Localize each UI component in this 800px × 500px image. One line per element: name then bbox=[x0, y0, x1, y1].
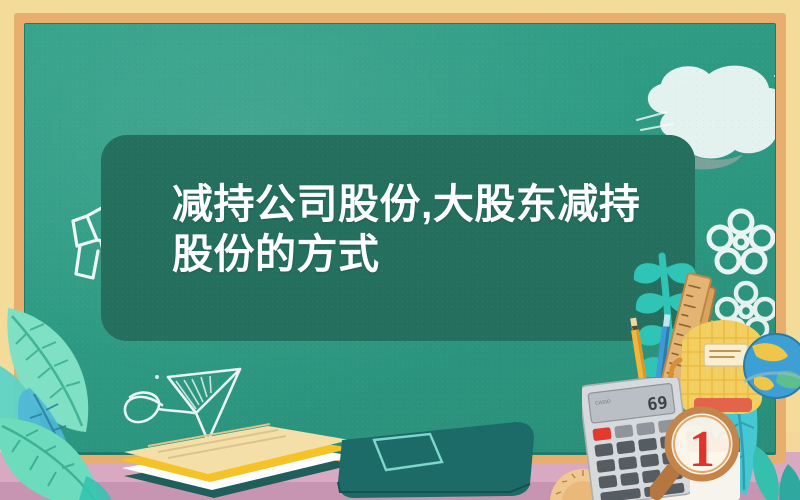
book-stack bbox=[118, 412, 358, 500]
teal-book bbox=[330, 418, 540, 500]
page-title: 减持公司股份,大股东减持股份的方式 bbox=[172, 179, 672, 279]
magnifier-icon: 1 bbox=[650, 400, 742, 500]
magnifier-lens-value: 1 bbox=[689, 421, 715, 478]
globe-icon bbox=[742, 330, 800, 406]
poster-canvas: 减持公司股份,大股东减持股份的方式 bbox=[0, 0, 800, 500]
